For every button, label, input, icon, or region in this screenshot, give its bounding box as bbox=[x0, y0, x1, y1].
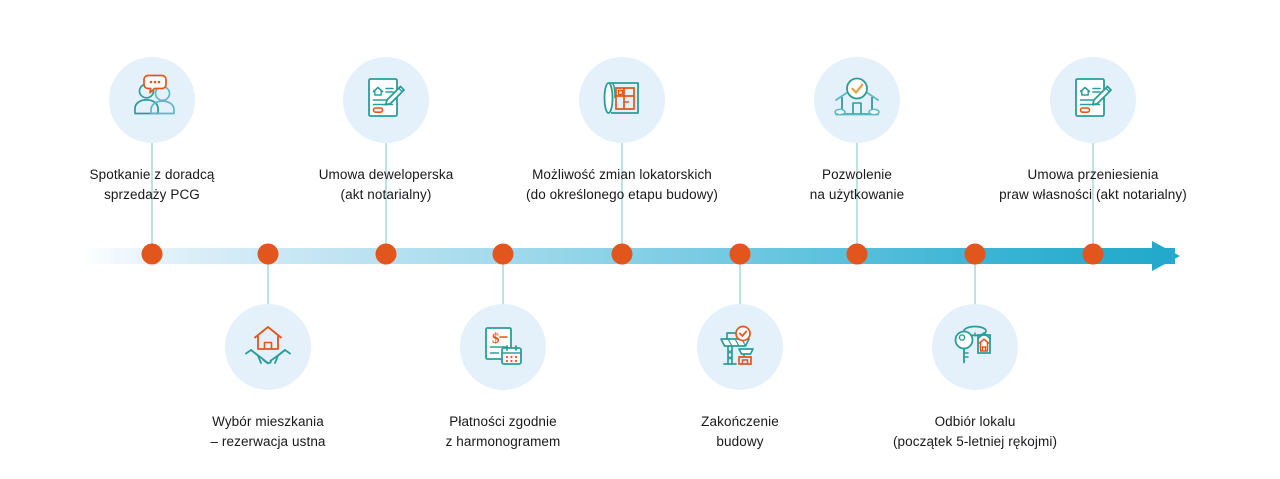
timeline-step-8[interactable]: Odbiór lokalu (początek 5-letniej rękojm… bbox=[845, 304, 1105, 452]
invoice-calendar-icon: $ bbox=[460, 304, 546, 390]
handshake-house-icon bbox=[225, 304, 311, 390]
step-label: Pozwolenie na użytkowanie bbox=[727, 165, 987, 205]
milestone-dot-3[interactable] bbox=[376, 244, 397, 265]
timeline-step-7[interactable]: Pozwolenie na użytkowanie bbox=[727, 57, 987, 205]
milestone-dot-8[interactable] bbox=[965, 244, 986, 265]
timeline-step-2[interactable]: Wybór mieszkania – rezerwacja ustna bbox=[138, 304, 398, 452]
crane-check-icon bbox=[697, 304, 783, 390]
timeline-step-6[interactable]: Zakończenie budowy bbox=[610, 304, 870, 452]
timeline-step-5[interactable]: Możliwość zmian lokatorskich (do określo… bbox=[492, 57, 752, 205]
step-label: Umowa przeniesienia praw własności (akt … bbox=[963, 165, 1223, 205]
milestone-dot-4[interactable] bbox=[493, 244, 514, 265]
step-label: Odbiór lokalu (początek 5-letniej rękojm… bbox=[845, 412, 1105, 452]
milestone-dot-9[interactable] bbox=[1083, 244, 1104, 265]
two-people-chat-icon bbox=[109, 57, 195, 143]
timeline-infographic: Spotkanie z doradcą sprzedaży PCG Wybór … bbox=[0, 0, 1280, 479]
timeline-step-1[interactable]: Spotkanie z doradcą sprzedaży PCG bbox=[22, 57, 282, 205]
timeline-step-9[interactable]: Umowa przeniesienia praw własności (akt … bbox=[963, 57, 1223, 205]
milestone-dot-7[interactable] bbox=[847, 244, 868, 265]
step-label: Zakończenie budowy bbox=[610, 412, 870, 452]
blueprint-icon bbox=[579, 57, 665, 143]
milestone-dot-5[interactable] bbox=[612, 244, 633, 265]
contract-pen-icon bbox=[343, 57, 429, 143]
step-label: Umowa deweloperska (akt notarialny) bbox=[256, 165, 516, 205]
timeline-arrow-head-icon bbox=[1152, 241, 1180, 271]
svg-text:$: $ bbox=[492, 331, 500, 347]
step-label: Możliwość zmian lokatorskich (do określo… bbox=[492, 165, 752, 205]
timeline-step-3[interactable]: Umowa deweloperska (akt notarialny) bbox=[256, 57, 516, 205]
milestone-dot-6[interactable] bbox=[730, 244, 751, 265]
contract-pen-icon bbox=[1050, 57, 1136, 143]
step-label: Wybór mieszkania – rezerwacja ustna bbox=[138, 412, 398, 452]
house-check-icon bbox=[814, 57, 900, 143]
keys-house-tag-icon bbox=[932, 304, 1018, 390]
step-label: Płatności zgodnie z harmonogramem bbox=[373, 412, 633, 452]
step-label: Spotkanie z doradcą sprzedaży PCG bbox=[22, 165, 282, 205]
milestone-dot-2[interactable] bbox=[258, 244, 279, 265]
timeline-step-4[interactable]: $ Płatności zgodnie z harmonogramem bbox=[373, 304, 633, 452]
milestone-dot-1[interactable] bbox=[142, 244, 163, 265]
